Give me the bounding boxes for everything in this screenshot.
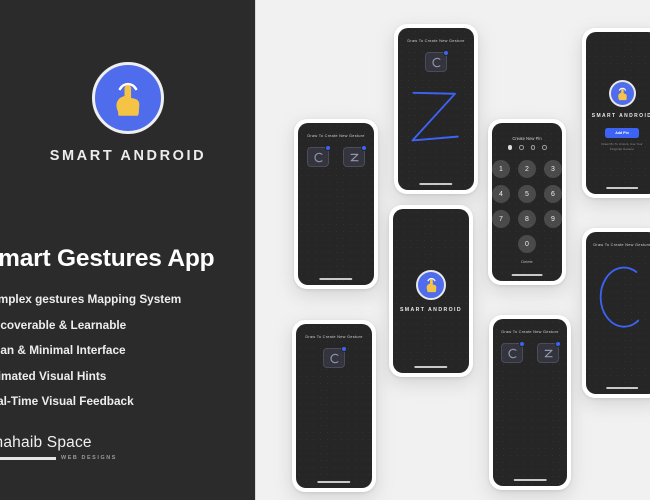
gesture-tile-row — [296, 348, 372, 368]
tap-hand-icon — [92, 62, 164, 134]
footer-brand-name: Shahaib Space — [0, 434, 254, 452]
gesture-drawing-canvas[interactable] — [398, 28, 474, 190]
pin-dot — [519, 145, 524, 150]
key-8[interactable]: 8 — [518, 210, 536, 228]
gesture-tile-c[interactable] — [323, 348, 345, 368]
tile-badge — [325, 145, 331, 151]
pin-keypad: 1 2 3 4 5 6 7 8 9 0 — [492, 160, 562, 253]
feature-item: Real-Time Visual Feedback — [0, 394, 256, 408]
pin-delete-button[interactable]: Delete — [492, 259, 562, 264]
tap-hand-icon — [416, 270, 446, 300]
home-indicator — [319, 278, 352, 280]
key-5[interactable]: 5 — [518, 185, 536, 203]
phone-screen: Draw To Create New Gesture — [398, 28, 474, 190]
pin-dot — [508, 145, 513, 150]
home-indicator — [514, 479, 547, 481]
phone-gesture-list-two-bottom: Draw To Create New Gesture — [489, 315, 571, 490]
footer-tagline: WEB DESIGNS — [61, 455, 117, 461]
phone-gesture-list-two: Draw To Create New Gesture — [294, 119, 378, 289]
gesture-tile-c[interactable] — [307, 147, 329, 167]
key-1[interactable]: 1 — [492, 160, 510, 178]
home-indicator — [512, 274, 543, 276]
divider — [0, 457, 56, 460]
presentation-slide: SMART ANDROID Smart Gestures App Complex… — [0, 0, 650, 500]
splash-brand-name: SMART ANDROID — [400, 307, 462, 313]
tile-badge — [361, 145, 367, 151]
gesture-tile-z[interactable] — [343, 147, 365, 167]
gesture-tile-c[interactable] — [501, 343, 523, 363]
phone-mockup-showcase: Draw To Create New Gesture Draw To Crea — [256, 0, 650, 500]
page-title: Smart Gestures App — [0, 245, 256, 273]
tap-hand-icon — [609, 80, 636, 107]
home-indicator — [606, 387, 638, 389]
feature-item: Clean & Minimal Interface — [0, 343, 256, 357]
phone-screen: Draw To Create New Gesture — [296, 324, 372, 488]
phone-screen: Draw To Create New Gesture — [586, 232, 650, 394]
key-6[interactable]: 6 — [544, 185, 562, 203]
key-7[interactable]: 7 — [492, 210, 510, 228]
footer-tagline-row: WEB DESIGNS — [0, 455, 254, 461]
phone-screen: Create New Pin 1 2 3 4 5 6 7 8 9 — [492, 123, 562, 281]
splash-content: SMART ANDROID — [393, 209, 469, 373]
key-4[interactable]: 4 — [492, 185, 510, 203]
splash-brand-name: SMART ANDROID — [586, 113, 650, 119]
pin-dot — [531, 145, 536, 150]
screen-title: Draw To Create New Gesture — [493, 329, 567, 334]
phone-screen: SMART ANDROID Add Pin Draw Pin To Unlock… — [586, 32, 650, 194]
pin-screen-title: Create New Pin — [492, 136, 562, 141]
add-pin-hint: Draw Pin To Unlock, Use Your Fingertip G… — [596, 142, 648, 151]
gesture-tile-z[interactable] — [537, 343, 559, 363]
phone-create-pin: Create New Pin 1 2 3 4 5 6 7 8 9 — [488, 119, 566, 285]
home-indicator — [414, 366, 447, 368]
home-indicator — [419, 183, 452, 185]
feature-item: Complex gestures Mapping System — [0, 292, 256, 306]
feature-item: Animated Visual Hints — [0, 369, 256, 383]
phone-draw-gesture-c: Draw To Create New Gesture — [582, 228, 650, 398]
brand-block: SMART ANDROID — [0, 62, 256, 164]
tile-badge — [341, 346, 347, 352]
add-pin-button[interactable]: Add Pin — [605, 128, 638, 138]
brand-name: SMART ANDROID — [50, 148, 207, 164]
phone-gesture-list-one: Draw To Create New Gesture — [292, 320, 376, 492]
key-3[interactable]: 3 — [544, 160, 562, 178]
phone-splash-logo: SMART ANDROID — [389, 205, 473, 377]
gesture-drawing-canvas[interactable] — [586, 232, 650, 394]
phone-draw-gesture-z: Draw To Create New Gesture — [394, 24, 478, 194]
feature-item: Discoverable & Learnable — [0, 318, 256, 332]
screen-title: Draw To Create New Gesture — [296, 334, 372, 339]
screen-title: Draw To Create New Gesture — [298, 133, 374, 138]
pin-dot — [542, 145, 547, 150]
key-0[interactable]: 0 — [518, 235, 536, 253]
gesture-tile-row — [298, 147, 374, 167]
tile-badge — [555, 341, 561, 347]
key-2[interactable]: 2 — [518, 160, 536, 178]
key-9[interactable]: 9 — [544, 210, 562, 228]
home-indicator — [317, 481, 350, 483]
home-indicator — [606, 187, 638, 189]
phone-screen: Draw To Create New Gesture — [493, 319, 567, 486]
phone-splash-add-pin: SMART ANDROID Add Pin Draw Pin To Unlock… — [582, 28, 650, 198]
footer-brand: Shahaib Space WEB DESIGNS — [0, 434, 254, 461]
phone-screen: SMART ANDROID — [393, 209, 469, 373]
pin-dots — [492, 145, 562, 150]
phone-screen: Draw To Create New Gesture — [298, 123, 374, 285]
tile-badge — [519, 341, 525, 347]
feature-list: Complex gestures Mapping System Discover… — [0, 292, 256, 420]
left-info-panel: SMART ANDROID Smart Gestures App Complex… — [0, 0, 256, 500]
gesture-tile-row — [493, 343, 567, 363]
